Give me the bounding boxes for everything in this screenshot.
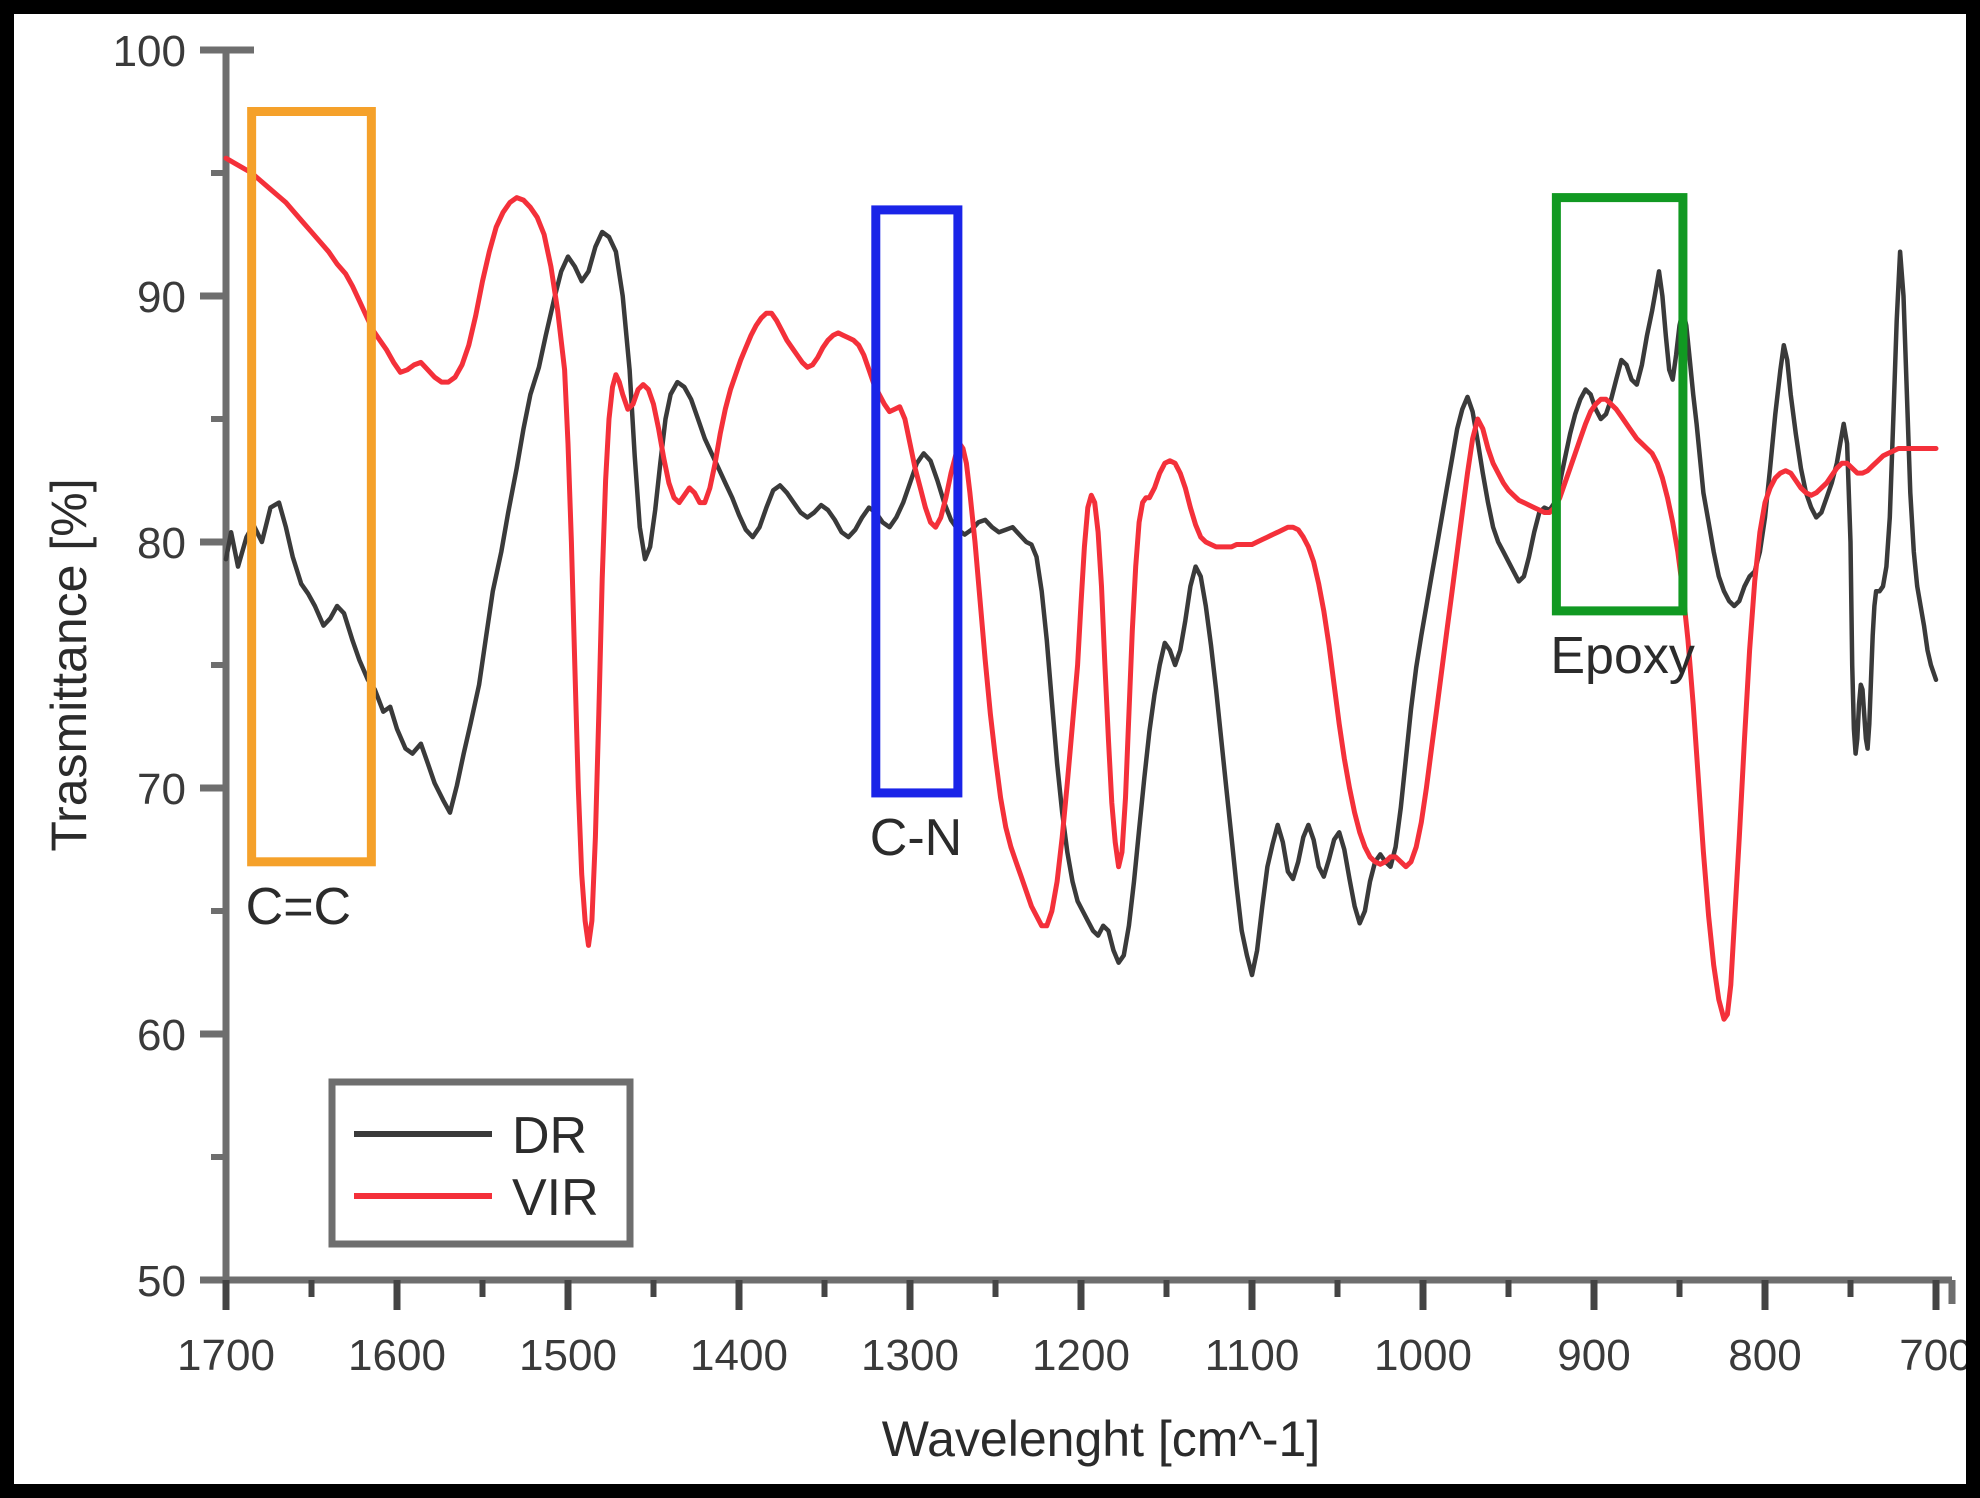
annotation-label-epoxy: Epoxy: [1550, 627, 1695, 685]
chart-plot-area: 5060708090100170016001500140013001200110…: [14, 14, 1966, 1484]
legend-label-vir: VIR: [512, 1169, 599, 1227]
annotation-label-cn: C-N: [870, 809, 962, 867]
x-tick-label: 1700: [177, 1331, 275, 1380]
figure-frame: 5060708090100170016001500140013001200110…: [0, 0, 1980, 1498]
x-tick-label: 1300: [861, 1331, 959, 1380]
x-tick-label: 1100: [1205, 1331, 1300, 1380]
y-tick-label: 80: [137, 519, 186, 568]
x-axis-title: Wavelenght [cm^-1]: [882, 1411, 1320, 1467]
y-tick-label: 50: [137, 1257, 186, 1306]
legend-label-dr: DR: [512, 1107, 587, 1165]
x-tick-label: 1200: [1032, 1331, 1130, 1380]
ftir-spectrum-chart: 5060708090100170016001500140013001200110…: [14, 14, 1966, 1484]
annotation-box-cc: [252, 112, 372, 862]
x-tick-label: 900: [1557, 1331, 1630, 1380]
x-tick-label: 700: [1899, 1331, 1966, 1380]
y-axis-title: Trasmittance [%]: [41, 478, 97, 851]
x-tick-label: 1500: [519, 1331, 617, 1380]
y-tick-label: 70: [137, 765, 186, 814]
y-tick-label: 60: [137, 1011, 186, 1060]
annotation-box-epoxy: [1556, 198, 1683, 611]
x-tick-label: 1400: [690, 1331, 788, 1380]
x-tick-label: 1600: [348, 1331, 446, 1380]
y-tick-label: 100: [113, 27, 186, 76]
annotation-label-cc: C=C: [246, 878, 351, 936]
y-tick-label: 90: [137, 273, 186, 322]
x-tick-label: 1000: [1374, 1331, 1472, 1380]
x-tick-label: 800: [1728, 1331, 1801, 1380]
